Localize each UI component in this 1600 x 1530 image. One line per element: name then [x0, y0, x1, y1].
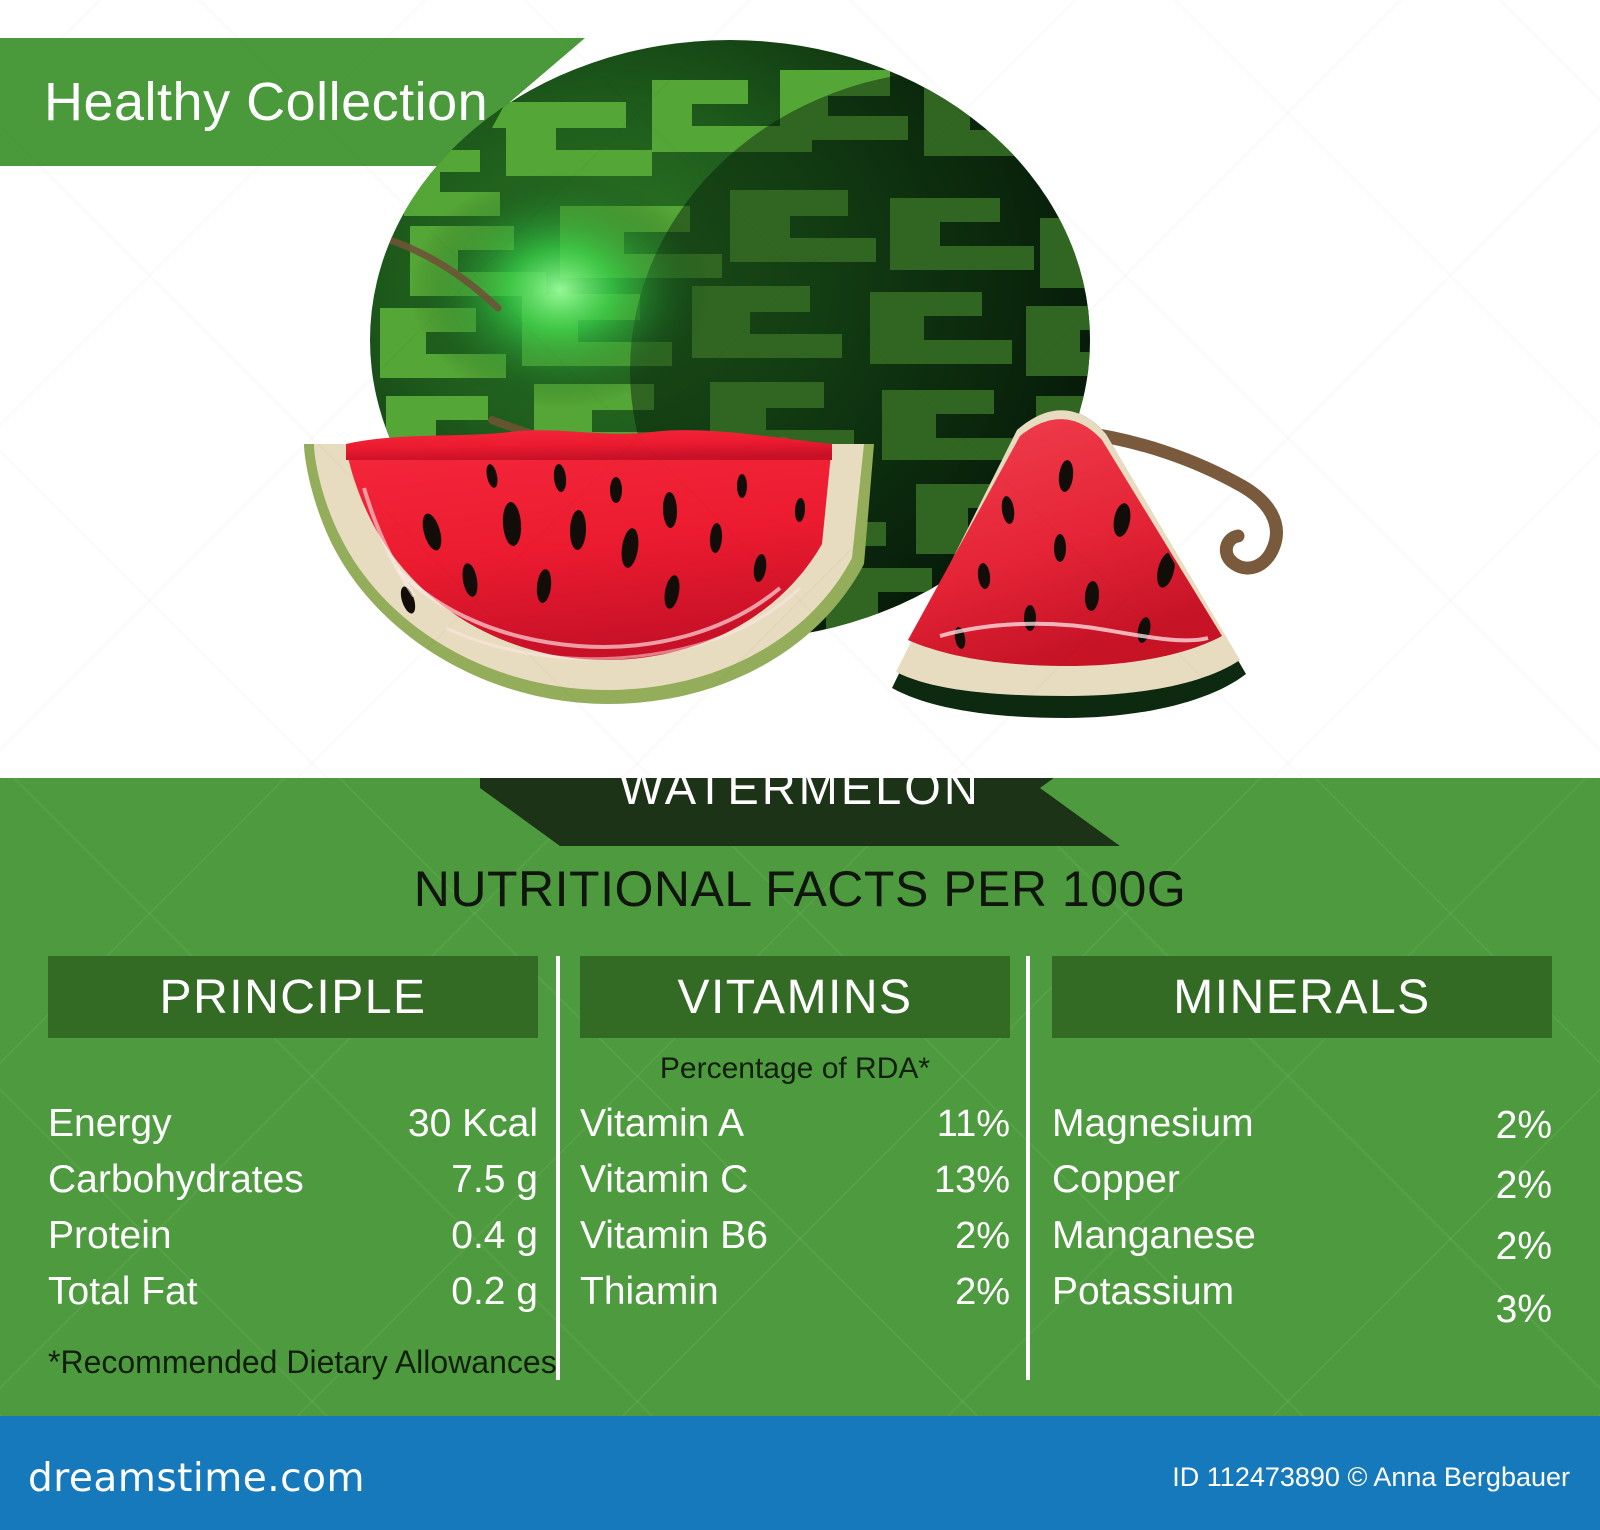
column-header-minerals: MINERALS	[1052, 956, 1552, 1038]
watermark-bar: dreamstime.com ID 112473890 © Anna Bergb…	[0, 1416, 1600, 1530]
image-credit: ID 112473890 © Anna Bergbauer	[1172, 1462, 1570, 1493]
dreamstime-logo: dreamstime.com	[28, 1456, 365, 1501]
row-value: 2%	[1496, 1158, 1552, 1214]
column-header-label: VITAMINS	[677, 970, 912, 1025]
watermelon-title-banner: WATERMELON	[480, 778, 1120, 846]
table-row: Energy 30 Kcal	[48, 1096, 538, 1152]
row-label: Carbohydrates	[48, 1152, 304, 1208]
row-value: 0.4 g	[451, 1208, 538, 1264]
row-value: 13%	[934, 1153, 1010, 1208]
rows-minerals: Magnesium 2% Copper 2% Manganese 2% Pota…	[1052, 1096, 1552, 1321]
rows-principle: Energy 30 Kcal Carbohydrates 7.5 g Prote…	[48, 1096, 538, 1321]
table-row: Carbohydrates 7.5 g	[48, 1152, 538, 1208]
row-value: 0.2 g	[451, 1264, 538, 1320]
row-value: 2%	[955, 1209, 1010, 1264]
table-row: Thiamin 2%	[580, 1264, 1010, 1320]
column-vitamins: VITAMINS Percentage of RDA* Vitamin A 11…	[580, 956, 1010, 1321]
row-value: 2%	[1496, 1098, 1552, 1154]
row-value: 3%	[1496, 1282, 1552, 1338]
row-label: Vitamin C	[580, 1152, 748, 1208]
column-subtitle-vitamins: Percentage of RDA*	[580, 1052, 1010, 1086]
facts-columns: PRINCIPLE Energy 30 Kcal Carbohydrates 7…	[0, 956, 1600, 1376]
table-row: Potassium 3%	[1052, 1264, 1552, 1320]
row-label: Total Fat	[48, 1264, 198, 1320]
watermelon-slice-large	[304, 430, 874, 704]
row-label: Manganese	[1052, 1208, 1256, 1264]
rows-vitamins: Vitamin A 11% Vitamin C 13% Vitamin B6 2…	[580, 1096, 1010, 1321]
row-label: Vitamin B6	[580, 1208, 768, 1264]
row-label: Protein	[48, 1208, 172, 1264]
row-value: 2%	[1496, 1219, 1552, 1275]
row-value: 30 Kcal	[408, 1096, 538, 1152]
row-value: 2%	[955, 1265, 1010, 1320]
row-label: Magnesium	[1052, 1096, 1254, 1152]
table-row: Manganese 2%	[1052, 1208, 1552, 1264]
nutrition-panel: WATERMELON NUTRITIONAL FACTS PER 100G PR…	[0, 778, 1600, 1416]
column-principle: PRINCIPLE Energy 30 Kcal Carbohydrates 7…	[48, 956, 538, 1321]
row-label: Vitamin A	[580, 1096, 744, 1152]
table-row: Vitamin B6 2%	[580, 1208, 1010, 1264]
table-row: Vitamin C 13%	[580, 1152, 1010, 1208]
watermelon-title-label: WATERMELON	[619, 778, 981, 815]
column-header-principle: PRINCIPLE	[48, 956, 538, 1038]
row-label: Thiamin	[580, 1264, 719, 1320]
row-label: Energy	[48, 1096, 172, 1152]
row-value: 11%	[937, 1097, 1010, 1152]
table-row: Total Fat 0.2 g	[48, 1264, 538, 1320]
nutritional-facts-heading: NUTRITIONAL FACTS PER 100G	[0, 860, 1600, 918]
row-label: Copper	[1052, 1152, 1180, 1208]
table-row: Copper 2%	[1052, 1152, 1552, 1208]
row-label: Potassium	[1052, 1264, 1234, 1320]
hero-section: Healthy Collection	[0, 0, 1600, 778]
watermelon-illustration	[260, 40, 1380, 740]
column-minerals: MINERALS Magnesium 2% Copper 2% Manganes…	[1052, 956, 1552, 1321]
rda-footnote: *Recommended Dietary Allowances	[48, 1344, 557, 1381]
column-header-label: PRINCIPLE	[160, 970, 427, 1025]
column-header-vitamins: VITAMINS	[580, 956, 1010, 1038]
table-row: Magnesium 2%	[1052, 1096, 1552, 1152]
table-row: Protein 0.4 g	[48, 1208, 538, 1264]
table-row: Vitamin A 11%	[580, 1096, 1010, 1152]
row-value: 7.5 g	[451, 1152, 538, 1208]
column-header-label: MINERALS	[1173, 970, 1430, 1025]
